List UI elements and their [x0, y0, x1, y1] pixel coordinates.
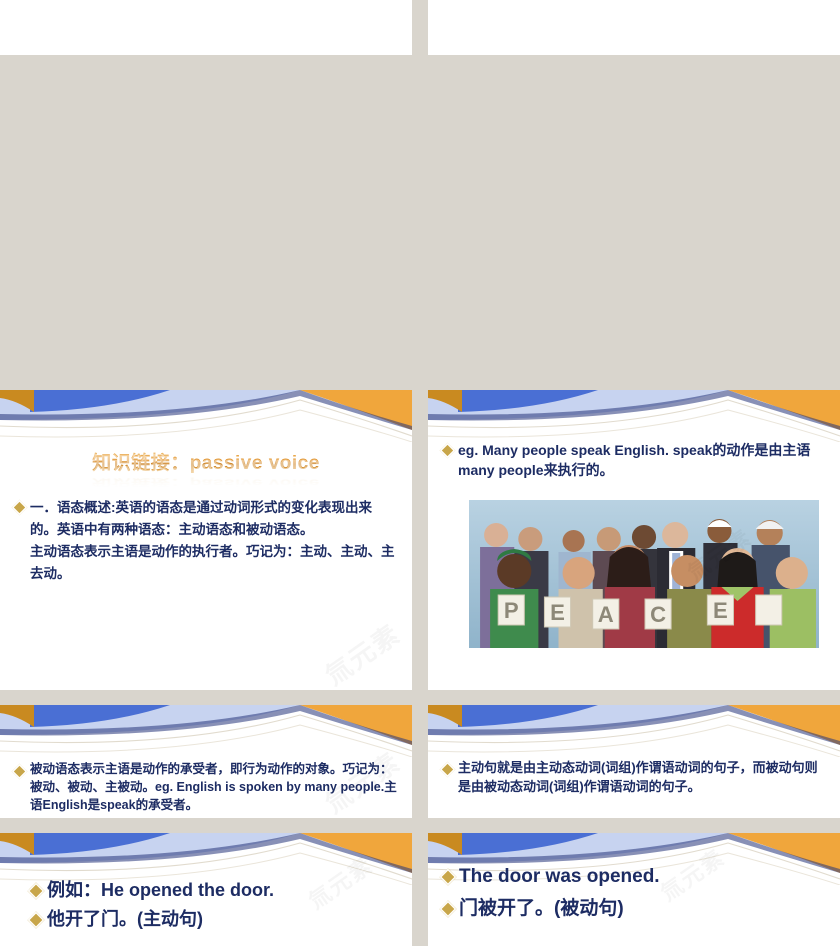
peace-group-photo: PEA CE: [468, 499, 820, 649]
paragraph-text: 门被开了。(被动句): [459, 895, 826, 924]
paragraph-text: 例如：He opened the door.: [47, 877, 398, 904]
svg-text:A: A: [598, 602, 614, 627]
bullet-paragraph: 一．语态概述:英语的语态是通过动词形式的变化表现出来的。英语中有两种语态：主动语…: [14, 497, 398, 584]
slide-thumbnail-grid: 知识链接：passive voice 知识链接：passive voice 一．…: [0, 0, 840, 788]
bullet-paragraph: 例如：He opened the door.: [30, 877, 398, 904]
slide-thumbnail-previous-left[interactable]: [0, 0, 412, 55]
bullet-paragraph: 门被开了。(被动句): [442, 895, 826, 924]
slide-thumbnail-1[interactable]: 知识链接：passive voice 知识链接：passive voice 一．…: [0, 390, 412, 690]
svg-text:C: C: [650, 602, 666, 627]
paragraph-text: 主动句就是由主动态动词(词组)作谓语动词的句子，而被动句则是由被动态动词(词组)…: [458, 759, 826, 797]
svg-text:E: E: [713, 598, 728, 623]
slide-thumbnail-5[interactable]: 例如：He opened the door. 他开了门。(主动句) 氚元素: [0, 833, 412, 946]
slide-header-decoration: [428, 390, 840, 442]
paragraph-text: 一．语态概述:英语的语态是通过动词形式的变化表现出来的。英语中有两种语态：主动语…: [30, 497, 398, 584]
slide-thumbnail-previous-right[interactable]: [428, 0, 840, 55]
bullet-paragraph: The door was opened.: [442, 863, 826, 892]
diamond-bullet-icon: [30, 914, 42, 926]
diamond-bullet-icon: [30, 885, 42, 897]
paragraph-text: The door was opened.: [459, 863, 826, 892]
bullet-paragraph: 他开了门。(主动句): [30, 906, 398, 933]
diamond-bullet-icon: [14, 502, 25, 513]
slide-header-decoration: [428, 705, 840, 757]
paragraph-text: eg. Many people speak English. speak的动作是…: [458, 440, 826, 481]
slide-thumbnail-2[interactable]: eg. Many people speak English. speak的动作是…: [428, 390, 840, 690]
slide-header-decoration: [0, 705, 412, 757]
bullet-paragraph: 主动句就是由主动态动词(词组)作谓语动词的句子，而被动句则是由被动态动词(词组)…: [442, 759, 826, 797]
slide-header-decoration: [0, 390, 412, 442]
slide-thumbnail-3[interactable]: 被动语态表示主语是动作的承受者，即行为动作的对象。巧记为：被动、被动、主被动。e…: [0, 705, 412, 818]
slide-title: 知识链接：passive voice: [14, 448, 398, 475]
slide-thumbnail-6[interactable]: The door was opened. 门被开了。(被动句) 氚元素: [428, 833, 840, 946]
svg-text:P: P: [504, 598, 519, 623]
diamond-bullet-icon: [442, 764, 453, 775]
svg-text:E: E: [550, 600, 565, 625]
diamond-bullet-icon: [442, 871, 454, 883]
slide-thumbnail-4[interactable]: 主动句就是由主动态动词(词组)作谓语动词的句子，而被动句则是由被动态动词(词组)…: [428, 705, 840, 818]
diamond-bullet-icon: [442, 903, 454, 915]
bullet-paragraph: eg. Many people speak English. speak的动作是…: [442, 440, 826, 481]
paragraph-text: 他开了门。(主动句): [47, 906, 398, 933]
slide-title-reflection: 知识链接：passive voice: [14, 476, 398, 491]
diamond-bullet-icon: [14, 766, 25, 777]
diamond-bullet-icon: [442, 445, 453, 456]
